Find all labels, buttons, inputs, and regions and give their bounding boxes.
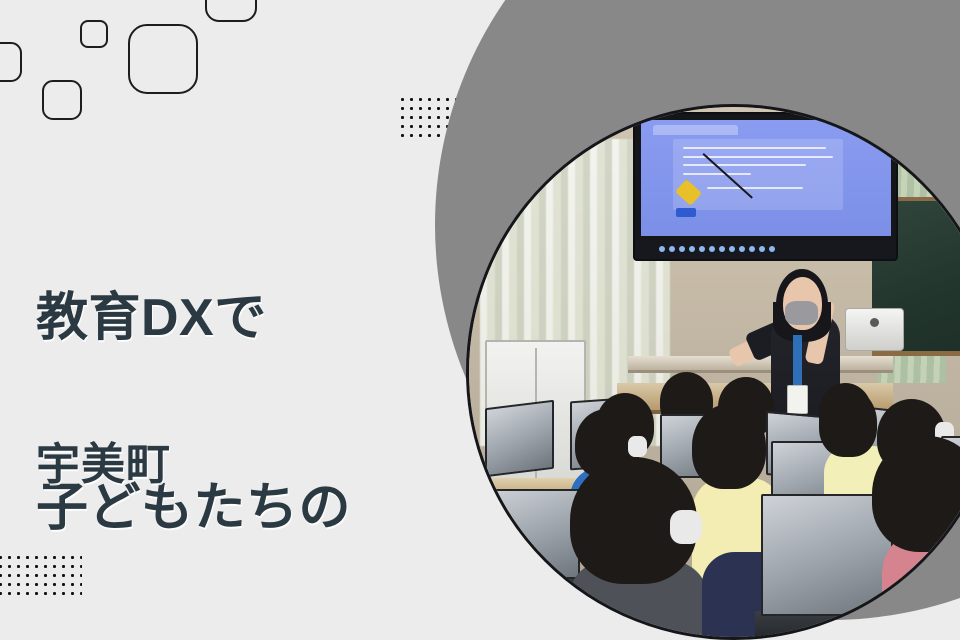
wall-clock-icon <box>957 165 960 197</box>
display-button <box>676 208 696 217</box>
rounded-square-outline-icon <box>128 24 198 94</box>
page-title: 教育DXで 子どもたちの 未来をつくろう <box>36 160 404 640</box>
poster-canvas: 教育DXで 子どもたちの 未来をつくろう 宇美町 <box>0 0 960 640</box>
teacher-lanyard <box>793 335 801 388</box>
headline-line-1: 教育DXで <box>36 287 404 350</box>
student-head <box>692 404 766 489</box>
display-taskbar <box>635 240 896 259</box>
rounded-square-outline-icon <box>42 80 82 120</box>
display-page <box>641 120 892 236</box>
teacher-id-badge <box>787 385 808 414</box>
municipality-name: 宇美町 <box>36 428 171 492</box>
student-face-mask <box>628 436 647 457</box>
student-head <box>819 388 877 457</box>
wall-display <box>633 112 898 260</box>
student-laptop <box>480 489 581 579</box>
rounded-square-outline-icon <box>205 0 257 22</box>
classroom-photo-inner <box>469 107 960 637</box>
rounded-square-outline-icon <box>0 42 22 82</box>
student-laptop <box>485 400 554 477</box>
cd-radio-device <box>845 308 903 350</box>
teacher-face-mask <box>785 301 818 325</box>
rounded-square-outline-icon <box>80 20 108 48</box>
display-document <box>673 139 843 211</box>
classroom-photo <box>466 104 960 640</box>
student-face-mask <box>670 510 702 544</box>
display-tab <box>653 125 738 135</box>
